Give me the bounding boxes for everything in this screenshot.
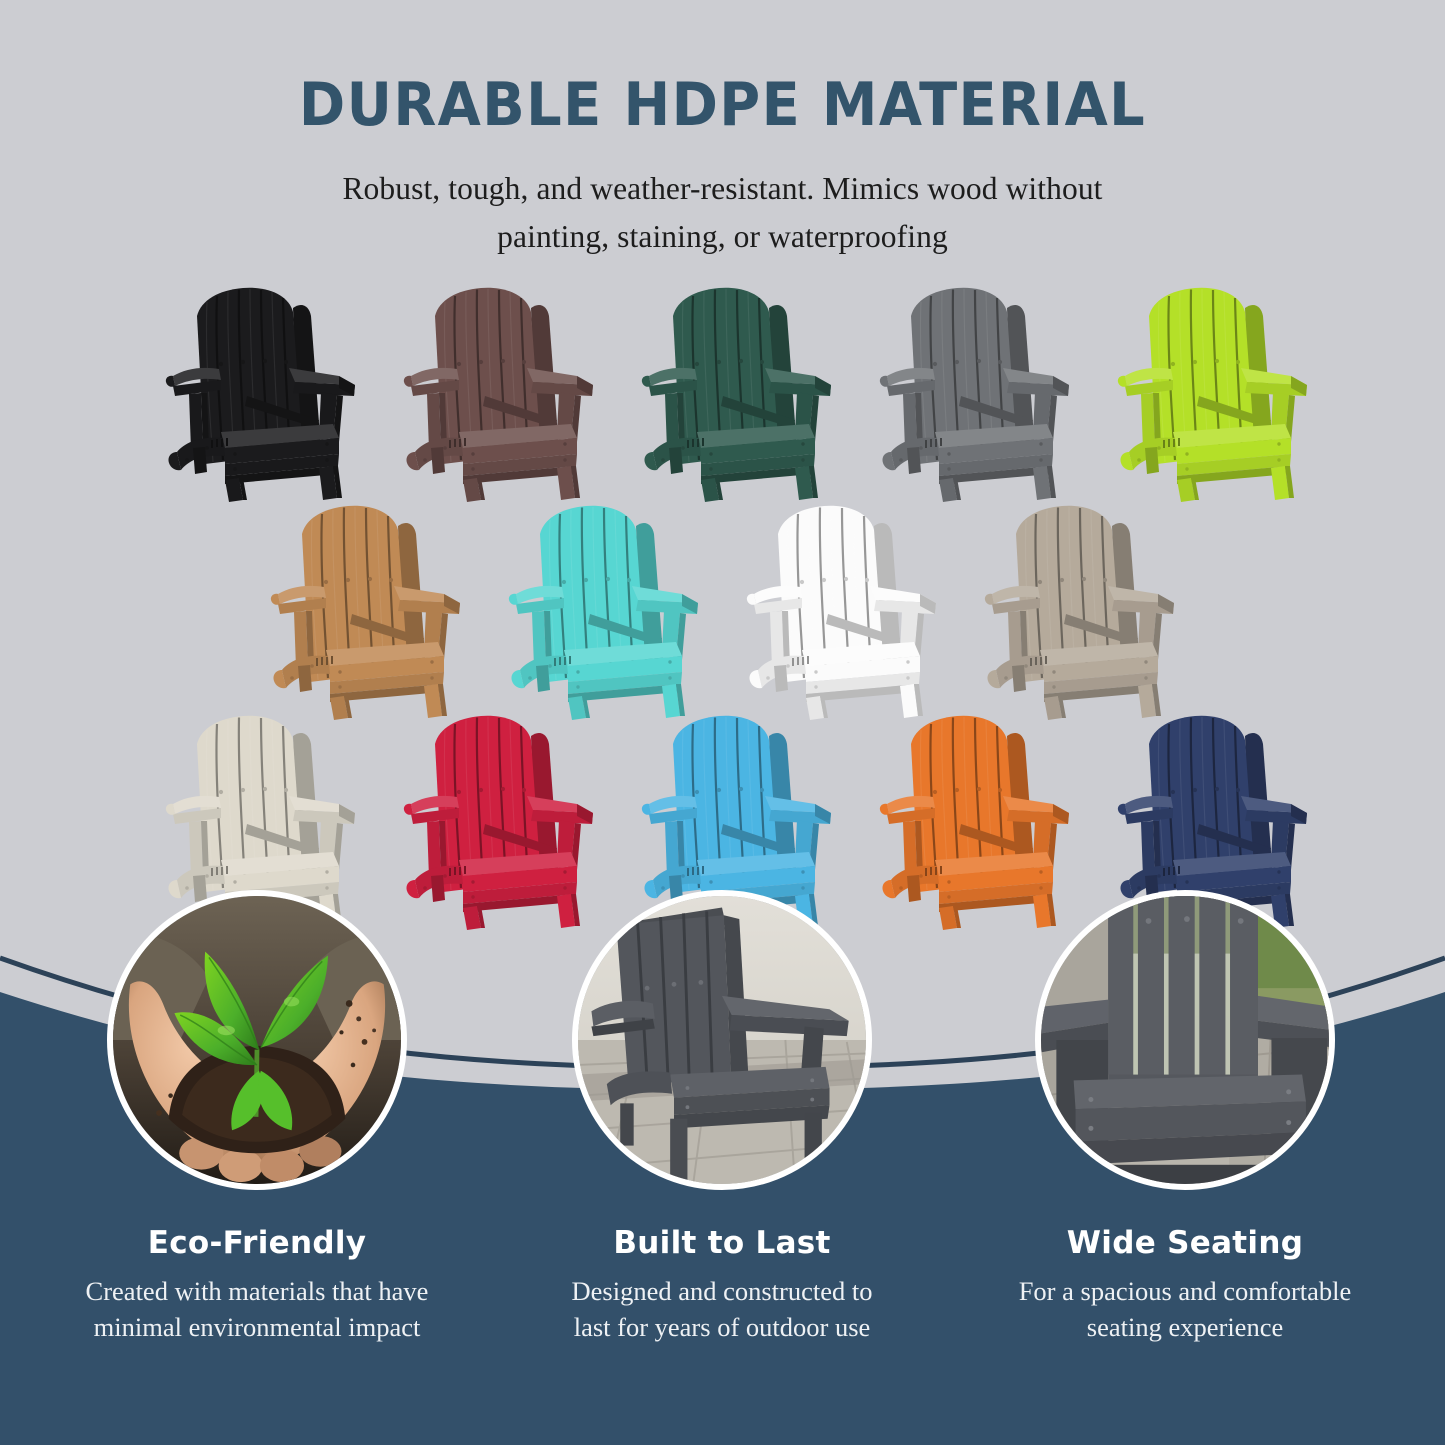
adirondack-chair-turquoise: [486, 490, 718, 722]
header-block: DURABLE HDPE MATERIAL Robust, tough, and…: [0, 0, 1445, 261]
chair-swatch-brown[interactable]: [381, 272, 613, 504]
feature-image-eco-friendly: [107, 890, 407, 1190]
infographic-page: DURABLE HDPE MATERIAL Robust, tough, and…: [0, 0, 1445, 1445]
feature-desc-line-2: minimal environmental impact: [22, 1310, 492, 1346]
feature-desc-line-2: last for years of outdoor use: [487, 1310, 957, 1346]
feature-card-built-to-last: Built to Last Designed and constructed t…: [487, 890, 957, 1345]
adirondack-chair-lime-green: [1095, 272, 1327, 504]
adirondack-chair-gray: [857, 272, 1089, 504]
feature-title-eco-friendly: Eco-Friendly: [22, 1225, 492, 1261]
feature-desc-line-1: Designed and constructed to: [487, 1274, 957, 1310]
feature-desc-line-2: seating experience: [950, 1310, 1420, 1346]
feature-card-wide-seating: Wide Seating For a spacious and comforta…: [950, 890, 1420, 1345]
chair-swatch-gray[interactable]: [857, 272, 1089, 504]
gray-chair-on-patio-icon: [578, 896, 866, 1184]
page-title: DURABLE HDPE MATERIAL: [51, 74, 1395, 137]
feature-image-built-to-last: [572, 890, 872, 1190]
hands-soil-seedling-icon: [113, 896, 401, 1184]
chair-swatch-dark-green[interactable]: [619, 272, 851, 504]
feature-card-eco-friendly: Eco-Friendly Created with materials that…: [22, 890, 492, 1345]
chair-swatch-lime-green[interactable]: [1095, 272, 1327, 504]
feature-image-wide-seating: [1035, 890, 1335, 1190]
adirondack-chair-white: [724, 490, 956, 722]
feature-title-wide-seating: Wide Seating: [950, 1225, 1420, 1261]
chair-swatch-turquoise[interactable]: [486, 490, 718, 722]
chair-swatch-black[interactable]: [143, 272, 375, 504]
feature-desc-wide-seating: For a spacious and comfortable seating e…: [950, 1274, 1420, 1345]
adirondack-chair-black: [143, 272, 375, 504]
feature-desc-built-to-last: Designed and constructed to last for yea…: [487, 1274, 957, 1345]
page-subtitle: Robust, tough, and weather-resistant. Mi…: [0, 165, 1445, 261]
subtitle-line-2: painting, staining, or waterproofing: [0, 213, 1445, 261]
wide-seat-closeup-icon: [1041, 896, 1329, 1184]
chair-swatch-teak-tan[interactable]: [248, 490, 480, 722]
adirondack-chair-teak-tan: [248, 490, 480, 722]
feature-desc-line-1: Created with materials that have: [22, 1274, 492, 1310]
feature-row: Eco-Friendly Created with materials that…: [0, 890, 1445, 1445]
feature-desc-eco-friendly: Created with materials that have minimal…: [22, 1274, 492, 1345]
feature-desc-line-1: For a spacious and comfortable: [950, 1274, 1420, 1310]
adirondack-chair-taupe: [962, 490, 1194, 722]
adirondack-chair-brown: [381, 272, 613, 504]
adirondack-chair-dark-green: [619, 272, 851, 504]
chair-swatch-white[interactable]: [724, 490, 956, 722]
chair-swatch-taupe[interactable]: [962, 490, 1194, 722]
subtitle-line-1: Robust, tough, and weather-resistant. Mi…: [0, 165, 1445, 213]
feature-title-built-to-last: Built to Last: [487, 1225, 957, 1261]
